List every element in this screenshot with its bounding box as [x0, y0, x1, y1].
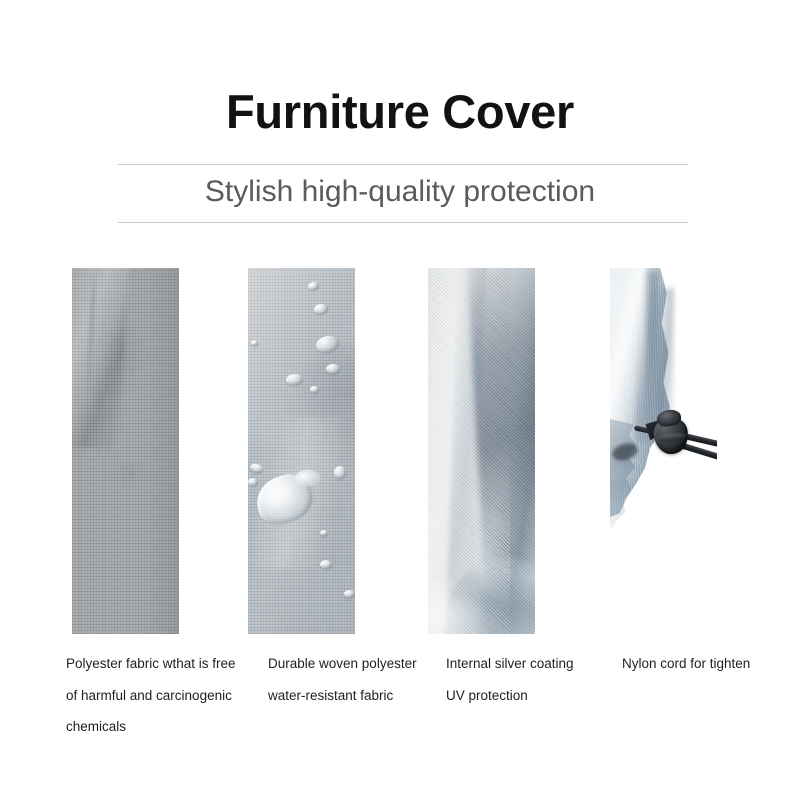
feature-image-strip — [0, 268, 800, 634]
feature-caption-water-resistant: Durable woven polyester water-resistant … — [268, 648, 418, 711]
water-droplet — [334, 466, 346, 479]
page-subtitle: Stylish high-quality protection — [0, 177, 800, 207]
feature-caption-polyester-fabric: Polyester fabric wthat is free of harmfu… — [66, 648, 242, 743]
divider-top — [118, 164, 688, 165]
water-droplet — [320, 560, 332, 569]
silver-lining-photo — [428, 268, 535, 634]
feature-caption-silver-coating: Internal silver coating UV protection — [446, 648, 586, 711]
water-droplet — [344, 590, 355, 598]
feature-caption-nylon-cord: Nylon cord for tighten — [622, 648, 772, 680]
feature-image-water-resistant — [248, 268, 355, 634]
silver-bottom-highlight — [428, 570, 486, 634]
water-droplet — [248, 478, 258, 486]
water-beading-photo — [248, 268, 355, 634]
divider-bottom — [118, 222, 688, 223]
page-title: Furniture Cover — [0, 88, 800, 135]
feature-image-silver-coating — [428, 268, 535, 634]
water-droplet — [310, 386, 319, 393]
water-droplet — [326, 364, 340, 374]
water-droplet — [320, 530, 328, 536]
feature-caption-row: Polyester fabric wthat is free of harmfu… — [0, 648, 800, 798]
fabric-right-shadow — [141, 268, 179, 634]
fabric-closeup-photo — [72, 268, 179, 634]
feature-image-nylon-cord — [610, 268, 717, 634]
feature-image-polyester-fabric — [72, 268, 179, 634]
cord-lock-photo — [610, 268, 717, 634]
product-feature-page: Furniture Cover Stylish high-quality pro… — [0, 0, 800, 800]
water-droplet — [251, 340, 258, 346]
